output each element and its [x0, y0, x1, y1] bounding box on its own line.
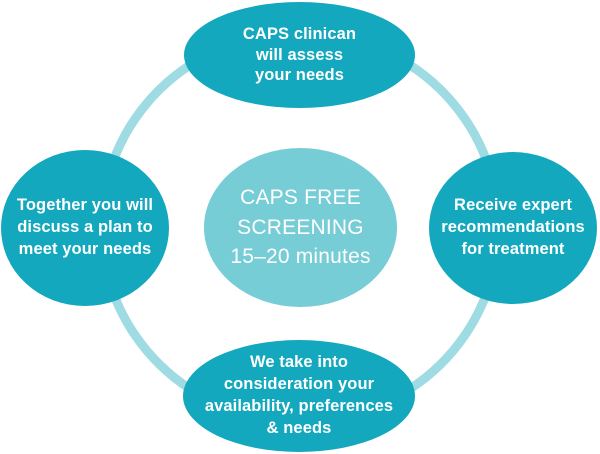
- node-assess-label: CAPS clinican will assess your needs: [243, 24, 356, 86]
- node-recommendations-label: Receive expert recommendations for treat…: [441, 195, 585, 260]
- node-recommendations: Receive expert recommendations for treat…: [429, 152, 597, 304]
- node-considerations: We take into consideration your availabi…: [183, 340, 415, 452]
- node-plan-label: Together you will discuss a plan to meet…: [17, 195, 153, 260]
- node-plan: Together you will discuss a plan to meet…: [1, 150, 169, 306]
- node-assess: CAPS clinican will assess your needs: [184, 2, 415, 108]
- process-cycle-diagram: CAPS FREE SCREENING 15–20 minutes CAPS c…: [0, 0, 600, 454]
- center-node-label: CAPS FREE SCREENING 15–20 minutes: [230, 183, 370, 272]
- node-considerations-label: We take into consideration your availabi…: [205, 352, 393, 440]
- center-node-caps-free-screening: CAPS FREE SCREENING 15–20 minutes: [204, 148, 397, 307]
